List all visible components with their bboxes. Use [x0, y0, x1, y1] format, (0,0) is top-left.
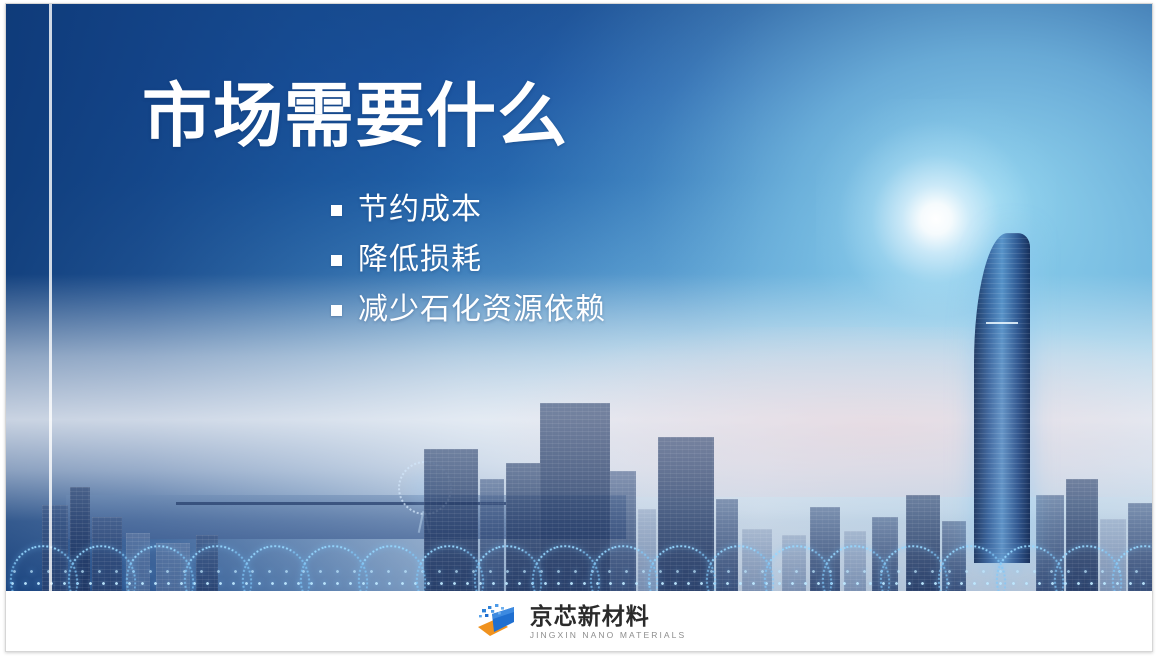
slide-footer: 京芯新材料 JINGXIN NANO MATERIALS	[6, 591, 1153, 652]
list-item: 降低损耗	[331, 242, 606, 278]
slide-background-image: 市场需要什么 节约成本 降低损耗 减少石化资源依赖	[6, 4, 1153, 591]
square-bullet-icon	[331, 255, 342, 266]
bullet-label: 节约成本	[358, 192, 482, 228]
tower-light-band	[986, 322, 1017, 324]
jingxin-pixel-cube-logo-icon	[474, 604, 520, 640]
presentation-slide: 市场需要什么 节约成本 降低损耗 减少石化资源依赖	[5, 3, 1153, 652]
curved-skyscraper	[974, 233, 1030, 563]
square-bullet-icon	[331, 205, 342, 216]
logo-name-cn: 京芯新材料	[530, 605, 687, 628]
brand-logo: 京芯新材料 JINGXIN NANO MATERIALS	[474, 604, 687, 640]
title-block: 市场需要什么	[142, 80, 568, 153]
logo-name-en: JINGXIN NANO MATERIALS	[530, 631, 687, 640]
slide-title: 市场需要什么	[142, 80, 568, 153]
list-item: 减少石化资源依赖	[331, 292, 606, 328]
left-accent-rule	[49, 4, 52, 591]
bullet-label: 降低损耗	[358, 242, 482, 278]
bullet-label: 减少石化资源依赖	[358, 292, 606, 328]
square-bullet-icon	[331, 305, 342, 316]
dusk-tint	[465, 327, 1153, 497]
bullet-list: 节约成本 降低损耗 减少石化资源依赖	[331, 192, 606, 342]
list-item: 节约成本	[331, 192, 606, 228]
logo-wordmark: 京芯新材料 JINGXIN NANO MATERIALS	[530, 605, 687, 640]
